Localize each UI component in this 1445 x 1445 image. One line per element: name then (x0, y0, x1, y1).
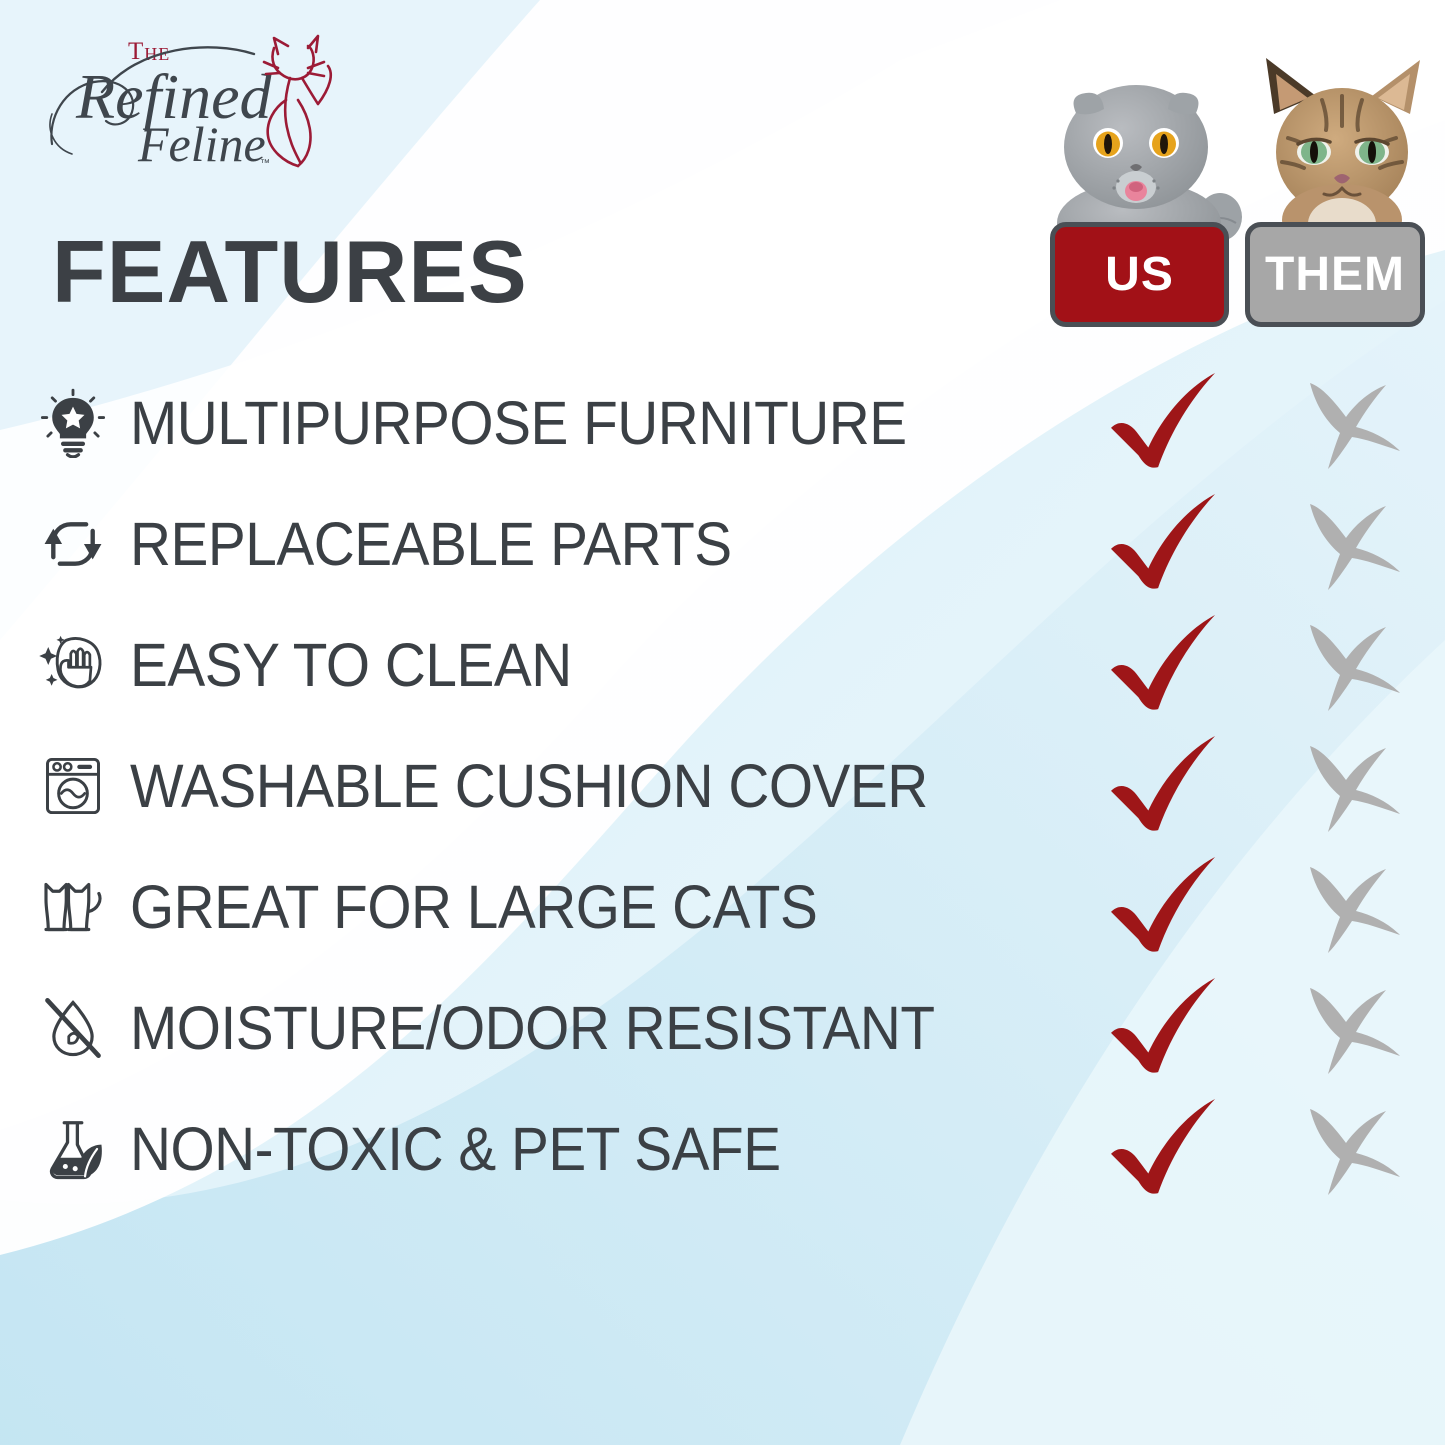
badge-them-label: THEM (1265, 251, 1405, 299)
brand-logo[interactable]: THE Refined Feline ™ (42, 26, 342, 176)
hand-wipe-sparkle-icon (30, 622, 116, 708)
grey-scottish-fold-cat-photo (1044, 55, 1274, 240)
us-check-icon (1105, 613, 1223, 717)
feature-label: NON-TOXIC & PET SAFE (130, 1114, 1037, 1184)
badge-them[interactable]: THEM (1245, 222, 1425, 327)
us-check-icon (1105, 1097, 1223, 1201)
two-cats-icon (30, 864, 116, 950)
feature-label: REPLACEABLE PARTS (130, 509, 1037, 579)
feature-row: EASY TO CLEAN (0, 604, 1445, 725)
them-cross-icon (1296, 377, 1404, 469)
feature-comparison-infographic: THE Refined Feline ™ FEATU (0, 0, 1445, 1445)
them-cross-icon (1296, 498, 1404, 590)
washing-machine-icon (30, 743, 116, 829)
them-cross-icon (1296, 982, 1404, 1074)
them-cross-icon (1296, 861, 1404, 953)
page-title: FEATURES (52, 228, 528, 316)
badge-us-label: US (1105, 251, 1174, 299)
us-check-icon (1105, 976, 1223, 1080)
replace-arrows-icon (30, 501, 116, 587)
us-check-icon (1105, 492, 1223, 596)
feature-label: GREAT FOR LARGE CATS (130, 872, 1037, 942)
feature-comparison-list: MULTIPURPOSE FURNITURE (0, 362, 1445, 1209)
feature-row: WASHABLE CUSHION COVER (0, 725, 1445, 846)
brown-tabby-cat-photo (1252, 52, 1432, 242)
feature-label: MULTIPURPOSE FURNITURE (130, 388, 1037, 458)
feature-row: REPLACEABLE PARTS (0, 483, 1445, 604)
cat-silhouette-icon (264, 36, 331, 166)
flask-leaf-icon (30, 1106, 116, 1192)
feature-row: MOISTURE/ODOR RESISTANT (0, 967, 1445, 1088)
feature-row: GREAT FOR LARGE CATS (0, 846, 1445, 967)
feature-label: WASHABLE CUSHION COVER (130, 751, 1037, 821)
svg-text:™: ™ (260, 158, 270, 169)
feature-row: MULTIPURPOSE FURNITURE (0, 362, 1445, 483)
them-cross-icon (1296, 740, 1404, 832)
feature-label: MOISTURE/ODOR RESISTANT (130, 993, 1037, 1063)
us-check-icon (1105, 371, 1223, 475)
lightbulb-star-icon (30, 380, 116, 466)
feature-label: EASY TO CLEAN (130, 630, 1037, 700)
us-check-icon (1105, 734, 1223, 838)
them-cross-icon (1296, 1103, 1404, 1195)
water-drop-slash-icon (30, 985, 116, 1071)
us-check-icon (1105, 855, 1223, 959)
them-cross-icon (1296, 619, 1404, 711)
svg-text:Feline: Feline (137, 116, 266, 172)
feature-row: NON-TOXIC & PET SAFE (0, 1088, 1445, 1209)
badge-us[interactable]: US (1050, 222, 1229, 327)
